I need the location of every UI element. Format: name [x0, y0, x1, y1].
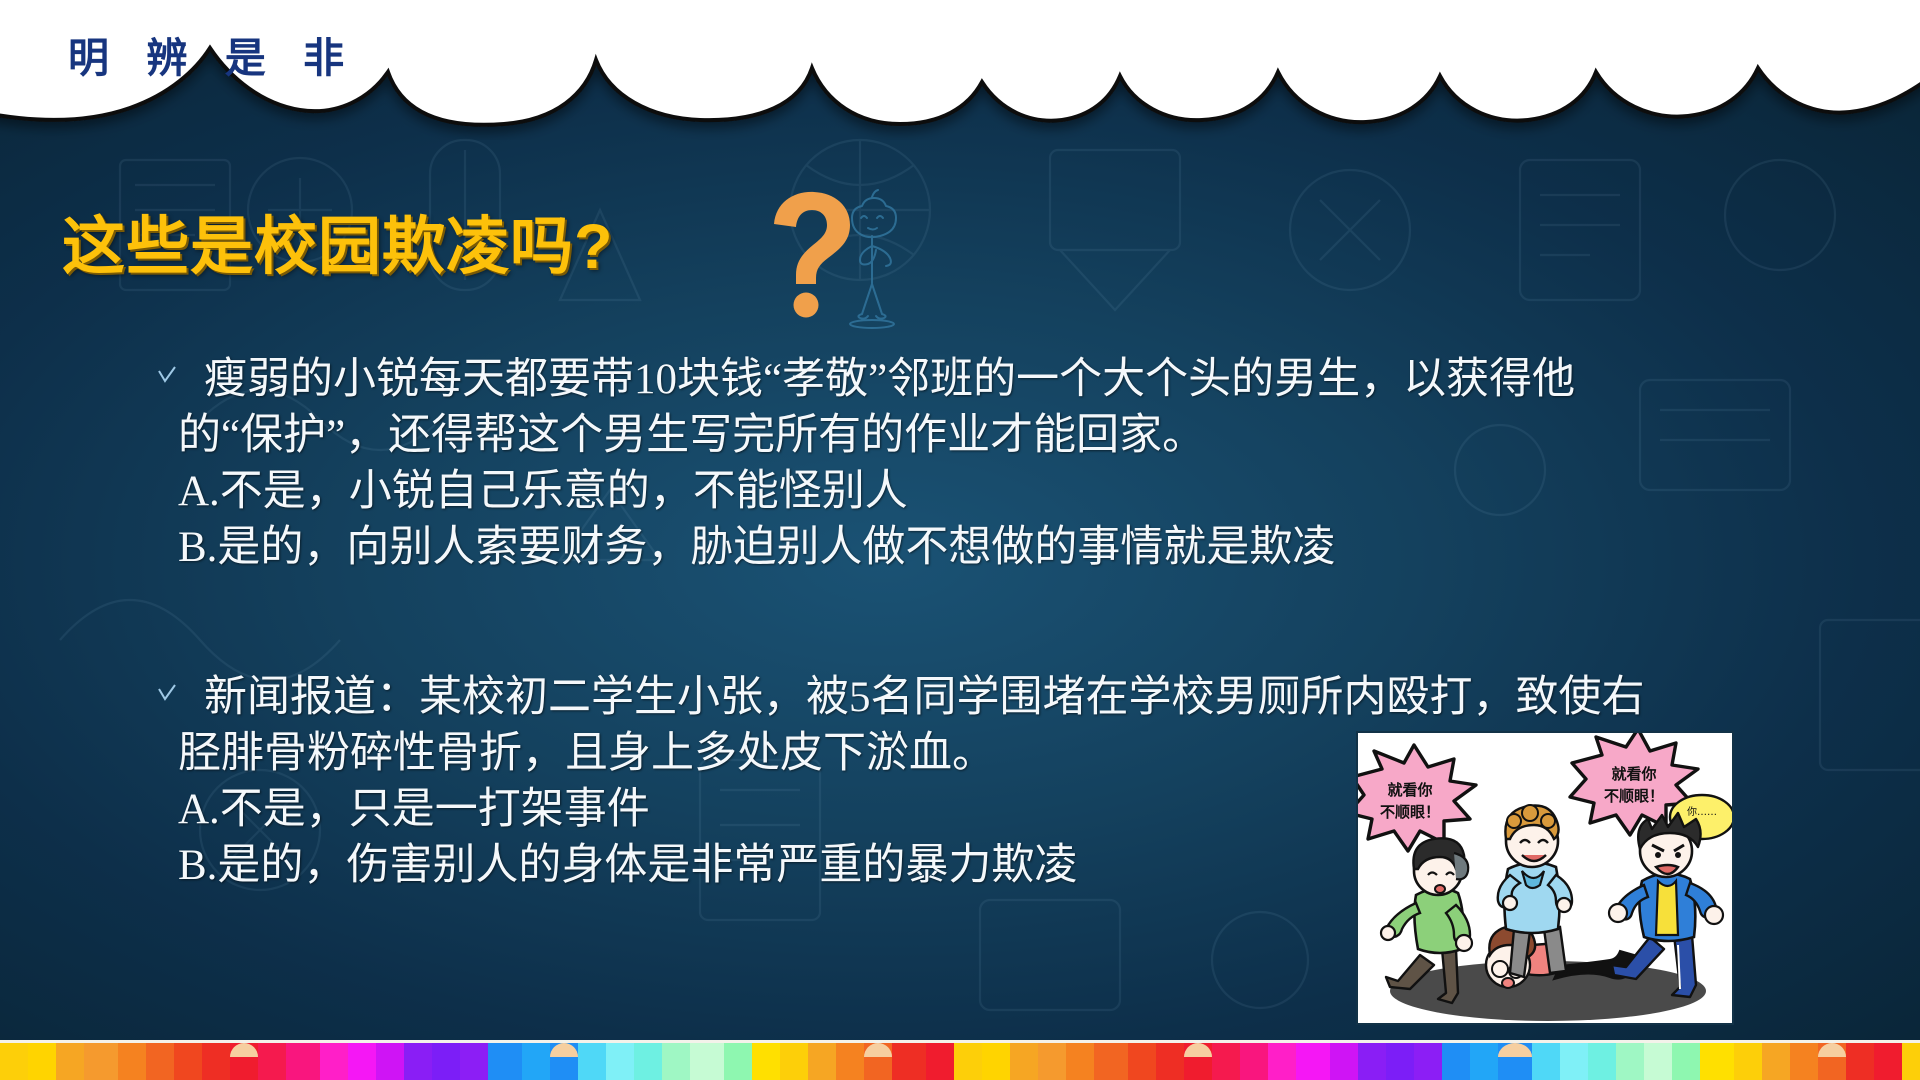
pencil-stripe: [954, 1043, 982, 1080]
pencil-stripe: [0, 1043, 28, 1080]
pencil-stripe: [1846, 1043, 1874, 1080]
pencil-stripe: [1442, 1043, 1470, 1080]
pencil-stripe: [84, 1043, 118, 1080]
bubble-text-right-line1: 就看你: [1611, 765, 1656, 783]
cartoon-illustration: 就看你 不顺眼！ 就看你 不顺眼！ 你……: [1358, 733, 1734, 1025]
pencil-stripe: [1386, 1043, 1414, 1080]
bubble-text-small: 你……: [1687, 805, 1717, 818]
pencil-stripe: [1038, 1043, 1066, 1080]
question-mark-icon: [760, 188, 910, 333]
school-bullying-cartoon: 就看你 不顺眼！ 就看你 不顺眼！ 你……: [1356, 731, 1734, 1025]
option-a[interactable]: A.不是，小锐自己乐意的，不能怪别人: [178, 464, 1878, 520]
pencil-stripe: [174, 1043, 202, 1080]
bubble-text-left-line1: 就看你: [1387, 781, 1432, 799]
pencil-stripe: [1762, 1043, 1790, 1080]
pencil-stripe: [1184, 1043, 1212, 1080]
pencil-stripe: [1156, 1043, 1184, 1080]
scenario-text-1a: 瘦弱的小锐每天都要带10块钱“孝敬”邻班的一个大个头的男生，以获得他: [204, 356, 1575, 403]
scenario-text-1b: 的“保护”，还得帮这个男生写完所有的作业才能回家。: [178, 408, 1878, 464]
pencil-stripe: [1212, 1043, 1240, 1080]
colored-pencil-strip: [0, 1040, 1920, 1080]
pencil-stripe: [202, 1043, 230, 1080]
pencil-stripe: [1094, 1043, 1128, 1080]
pencil-stripe: [808, 1043, 836, 1080]
pencil-stripe: [1672, 1043, 1700, 1080]
pencil-stripe: [258, 1043, 286, 1080]
pencil-stripe: [1066, 1043, 1094, 1080]
scenario-text-2a: 新闻报道：某校初二学生小张，被5名同学围堵在学校男厕所内殴打，致使右: [204, 674, 1645, 721]
pencil-stripe: [460, 1043, 488, 1080]
pencil-stripe: [578, 1043, 606, 1080]
pencil-stripe: [1560, 1043, 1588, 1080]
scenario-line: 新闻报道：某校初二学生小张，被5名同学围堵在学校男厕所内殴打，致使右: [178, 670, 1878, 726]
pencil-stripe: [1330, 1043, 1358, 1080]
bubble-text-left-line2: 不顺眼！: [1380, 803, 1440, 821]
checkmark-bullet-icon: [156, 364, 178, 386]
pencil-stripe: [1296, 1043, 1330, 1080]
pencil-stripe: [1790, 1043, 1818, 1080]
pencil-stripe: [724, 1043, 752, 1080]
pencil-stripe: [780, 1043, 808, 1080]
pencil-stripe: [926, 1043, 954, 1080]
page-title: 明 辨 是 非: [68, 24, 357, 84]
pencil-stripe: [1874, 1043, 1902, 1080]
pencil-stripe: [892, 1043, 926, 1080]
pencil-stripe: [662, 1043, 690, 1080]
pencil-stripe: [432, 1043, 460, 1080]
checkmark-bullet-icon: [156, 682, 178, 704]
pencil-stripe: [836, 1043, 864, 1080]
pencil-stripe: [320, 1043, 348, 1080]
pencil-stripe: [982, 1043, 1010, 1080]
scenario-line: 瘦弱的小锐每天都要带10块钱“孝敬”邻班的一个大个头的男生，以获得他: [178, 352, 1878, 408]
pencil-stripe: [1616, 1043, 1644, 1080]
pencil-stripe: [1358, 1043, 1386, 1080]
slide-canvas: 明 辨 是 非 这些是校园欺凌吗?: [0, 0, 1920, 1080]
pencil-stripe: [1498, 1043, 1532, 1080]
pencil-stripe: [348, 1043, 376, 1080]
pencil-stripe: [690, 1043, 724, 1080]
pencil-stripe: [1010, 1043, 1038, 1080]
bubble-text-right-line2: 不顺眼！: [1604, 787, 1664, 805]
pencil-stripe: [488, 1043, 522, 1080]
question-block-1: 瘦弱的小锐每天都要带10块钱“孝敬”邻班的一个大个头的男生，以获得他 的“保护”…: [178, 352, 1878, 576]
option-b[interactable]: B.是的，向别人索要财务，胁迫别人做不想做的事情就是欺凌: [178, 520, 1878, 576]
pencil-stripe: [56, 1043, 84, 1080]
pencil-stripe: [1734, 1043, 1762, 1080]
pencil-stripe: [1700, 1043, 1734, 1080]
pencil-stripe: [550, 1043, 578, 1080]
pencil-stripe: [118, 1043, 146, 1080]
pencil-stripe: [522, 1043, 550, 1080]
pencil-stripe: [1644, 1043, 1672, 1080]
pencil-stripe: [1414, 1043, 1442, 1080]
pencil-stripe: [606, 1043, 634, 1080]
pencil-stripe: [1588, 1043, 1616, 1080]
pencil-stripe: [752, 1043, 780, 1080]
pencil-stripe: [1470, 1043, 1498, 1080]
pencil-stripe: [28, 1043, 56, 1080]
pencil-stripe: [376, 1043, 404, 1080]
pencil-stripe: [864, 1043, 892, 1080]
pencil-stripe: [230, 1043, 258, 1080]
pencil-stripe: [1240, 1043, 1268, 1080]
pencil-stripe: [146, 1043, 174, 1080]
pencil-stripe: [404, 1043, 432, 1080]
main-title: 这些是校园欺凌吗?: [62, 196, 613, 287]
pencil-stripe: [1818, 1043, 1846, 1080]
pencil-stripe: [1128, 1043, 1156, 1080]
pencil-stripe: [286, 1043, 320, 1080]
pencil-stripe: [1268, 1043, 1296, 1080]
pencil-stripe: [1532, 1043, 1560, 1080]
pencil-stripe: [634, 1043, 662, 1080]
pencil-stripe: [1902, 1043, 1920, 1080]
